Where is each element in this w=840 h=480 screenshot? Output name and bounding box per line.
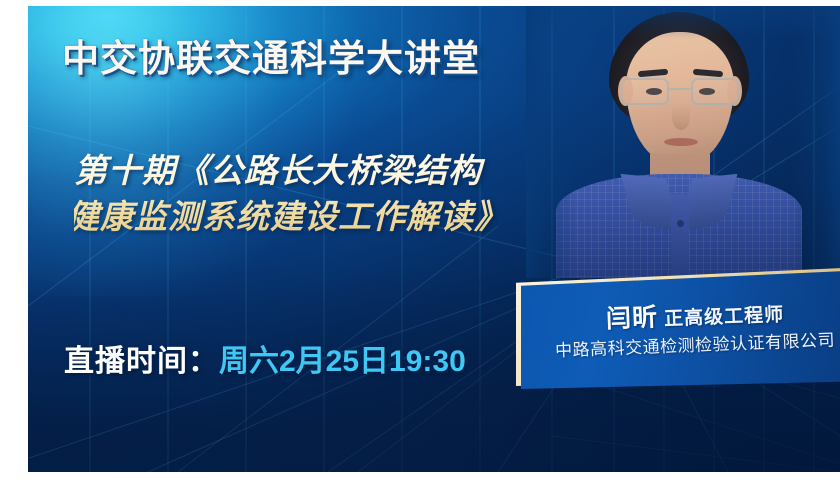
subtitle-line-2: 健康监测系统建设工作解读》 [66, 195, 508, 241]
page-title: 中交协联交通科学大讲堂 [62, 28, 480, 82]
speaker-title: 正高级工程师 [664, 305, 785, 331]
speaker-info-panel: 闫昕正高级工程师 中路高科交通检测检验认证有限公司 [488, 254, 840, 414]
panel-text-group: 闫昕正高级工程师 中路高科交通检测检验认证有限公司 [521, 269, 840, 389]
live-time-label: 直播时间： [64, 345, 219, 378]
subtitle-line-1: 第十期《公路长大桥梁结构 [74, 154, 482, 190]
live-time: 直播时间：周六2月25日19:30 [64, 336, 466, 380]
live-time-value: 周六2月25日19:30 [219, 345, 466, 378]
speaker-name: 闫昕 [606, 303, 659, 333]
episode-subtitle: 第十期《公路长大桥梁结构 健康监测系统建设工作解读》 [74, 149, 508, 241]
webinar-poster: 中交协联交通科学大讲堂 第十期《公路长大桥梁结构 健康监测系统建设工作解读》 直… [28, 6, 840, 472]
